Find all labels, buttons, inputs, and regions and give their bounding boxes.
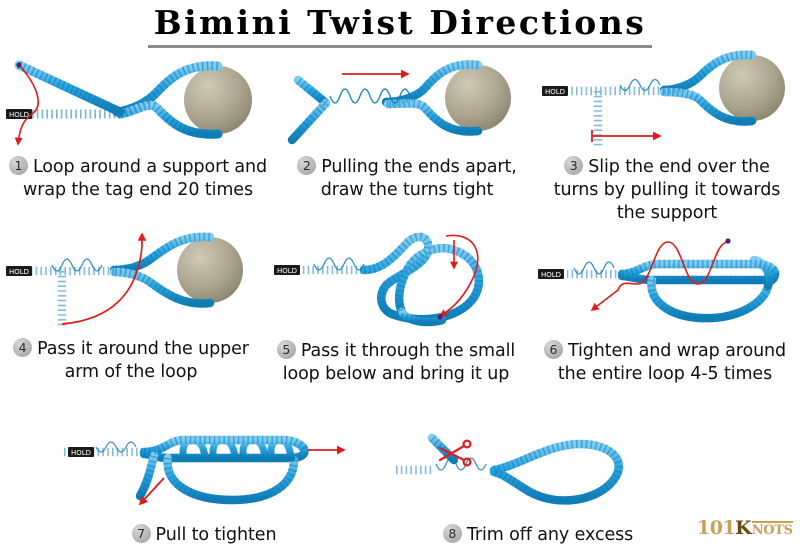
step-badge-4: 4 <box>13 338 32 357</box>
step-text-6: Tighten and wrap around the entire loop … <box>558 341 786 384</box>
figure-tighten-and-wrap: HOLD <box>532 228 798 340</box>
support-circle-icon <box>184 66 252 134</box>
svg-text:HOLD: HOLD <box>541 271 561 279</box>
step-caption-2: 2Pulling the ends apart, draw the turns … <box>282 156 532 202</box>
step-caption-1: 1Loop around a support and wrap the tag … <box>2 156 274 202</box>
step-badge-2: 2 <box>297 156 316 175</box>
brand-logo: 101KNOTS <box>697 517 793 542</box>
step-text-1: Loop around a support and wrap the tag e… <box>23 157 267 200</box>
step-card-4: HOLD 4Pass it around the upper arm of th… <box>2 228 260 384</box>
step-text-8: Trim off any excess <box>467 525 633 545</box>
step-card-1: HOLD 1Loop around a support and wrap the… <box>2 48 274 202</box>
rope-path <box>396 438 619 500</box>
step-card-5: HOLD 5Pass it through the small loop bel… <box>268 228 524 386</box>
step-badge-1: 1 <box>9 156 28 175</box>
logo-k: K <box>735 517 752 539</box>
step-badge-5: 5 <box>277 340 296 359</box>
step-caption-5: 5Pass it through the small loop below an… <box>268 340 524 386</box>
hold-tag: HOLD <box>538 269 564 279</box>
step-card-6: HOLD 6Tighten and wrap around the entire… <box>532 228 798 386</box>
step-text-3: Slip the end over the turns by pulling i… <box>554 157 781 223</box>
support-circle-icon <box>719 55 785 121</box>
step-caption-3: 3Slip the end over the turns by pulling … <box>536 156 798 225</box>
step-text-5: Pass it through the small loop below and… <box>283 341 515 384</box>
step-card-2: 2Pulling the ends apart, draw the turns … <box>282 48 532 202</box>
figure-loop-around-support: HOLD <box>2 48 274 156</box>
step-caption-7: 7Pull to tighten <box>28 524 380 547</box>
step-text-4: Pass it around the upper arm of the loop <box>37 339 249 382</box>
figure-pass-around-upper-arm: HOLD <box>2 228 260 338</box>
figure-slip-end-over-turns: HOLD <box>536 48 798 156</box>
step-badge-8: 8 <box>443 524 462 543</box>
support-circle-icon <box>445 65 511 131</box>
rope-path <box>542 55 752 148</box>
step-card-7: HOLD 7Pull to tighten <box>28 426 380 547</box>
svg-text:HOLD: HOLD <box>545 88 565 96</box>
hold-tag: HOLD <box>274 265 300 275</box>
support-circle-icon <box>177 237 243 303</box>
svg-text:HOLD: HOLD <box>9 268 29 276</box>
arrow-icon <box>62 234 142 324</box>
step-badge-6: 6 <box>544 340 563 359</box>
steps-grid: HOLD 1Loop around a support and wrap the… <box>0 48 800 548</box>
figure-draw-turns-tight <box>282 48 532 156</box>
page-title: Bimini Twist Directions <box>148 4 653 48</box>
step-caption-8: 8Trim off any excess <box>388 524 688 547</box>
svg-text:HOLD: HOLD <box>9 111 29 119</box>
step-badge-7: 7 <box>132 524 151 543</box>
step-card-3: HOLD 3Slip the end over the turns by pul… <box>536 48 798 225</box>
step-text-7: Pull to tighten <box>156 525 277 545</box>
figure-trim-off-excess <box>388 426 688 524</box>
step-caption-4: 4Pass it around the upper arm of the loo… <box>2 338 260 384</box>
logo-suffix: NOTS <box>752 521 793 538</box>
step-badge-3: 3 <box>564 156 583 175</box>
hold-tag: HOLD <box>68 447 94 457</box>
svg-text:HOLD: HOLD <box>71 449 91 457</box>
logo-prefix: 101 <box>697 517 735 539</box>
step-text-2: Pulling the ends apart, draw the turns t… <box>321 157 517 200</box>
step-card-8: 8Trim off any excess <box>388 426 688 547</box>
figure-pull-to-tighten: HOLD <box>28 426 380 524</box>
title-block: Bimini Twist Directions <box>0 4 800 48</box>
svg-text:HOLD: HOLD <box>277 267 297 275</box>
hold-tag: HOLD <box>542 86 568 96</box>
hold-tag: HOLD <box>6 266 32 276</box>
figure-pass-through-small-loop: HOLD <box>268 228 524 340</box>
step-caption-6: 6Tighten and wrap around the entire loop… <box>532 340 798 386</box>
